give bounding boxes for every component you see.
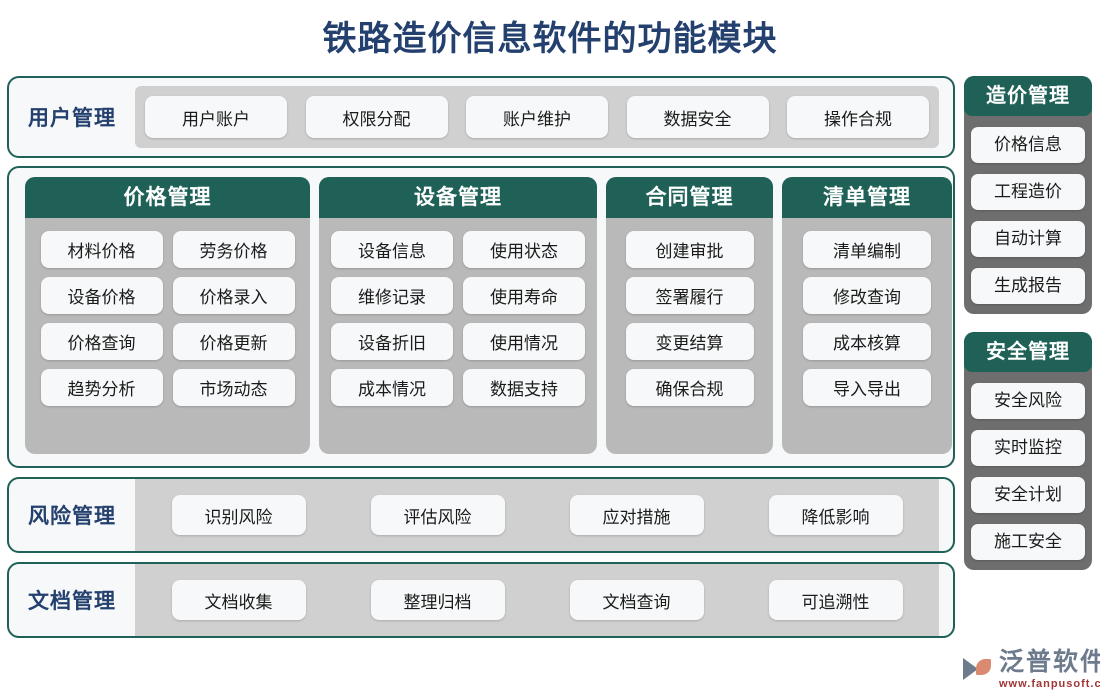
module-row: 签署履行 <box>606 277 773 314</box>
pill-create-approve[interactable]: 创建审批 <box>626 231 754 268</box>
pill-change-settle[interactable]: 变更结算 <box>626 323 754 360</box>
sidebar-header-safety: 安全管理 <box>964 332 1092 372</box>
pill-cost-accounting[interactable]: 成本核算 <box>803 323 931 360</box>
module-row: 设备信息 使用状态 <box>319 231 597 268</box>
modules-card: 价格管理 材料价格 劳务价格 设备价格 价格录入 价格查询 价格更新 趋势分析 … <box>7 166 955 468</box>
sidebar-panel-cost: 造价管理 价格信息 工程造价 自动计算 生成报告 <box>964 76 1092 314</box>
pill-service-life[interactable]: 使用寿命 <box>463 277 585 314</box>
module-column-equipment: 设备管理 设备信息 使用状态 维修记录 使用寿命 设备折旧 使用情况 成本情况 … <box>319 177 597 454</box>
module-row: 维修记录 使用寿命 <box>319 277 597 314</box>
module-header-equipment: 设备管理 <box>319 177 597 218</box>
pill-usage-detail[interactable]: 使用情况 <box>463 323 585 360</box>
module-row: 清单编制 <box>782 231 952 268</box>
sidebar-item-gen-report[interactable]: 生成报告 <box>971 268 1085 304</box>
pill-user-account[interactable]: 用户账户 <box>145 96 287 138</box>
pill-operation-comp[interactable]: 操作合规 <box>787 96 929 138</box>
sidebar-item-auto-calc[interactable]: 自动计算 <box>971 221 1085 257</box>
sidebar-item-realtime-mon[interactable]: 实时监控 <box>971 430 1085 466</box>
module-body-price: 材料价格 劳务价格 设备价格 价格录入 价格查询 价格更新 趋势分析 市场动态 <box>25 218 310 454</box>
pill-identify-risk[interactable]: 识别风险 <box>172 495 306 535</box>
fanpu-watermark-bottom: 泛普软件 www.fanpusoft.com <box>963 650 1100 690</box>
pill-doc-query[interactable]: 文档查询 <box>570 580 704 620</box>
document-management-items: 文档收集 整理归档 文档查询 可追溯性 <box>135 564 939 636</box>
pill-assess-risk[interactable]: 评估风险 <box>371 495 505 535</box>
module-row: 材料价格 劳务价格 <box>25 231 310 268</box>
module-row: 设备折旧 使用情况 <box>319 323 597 360</box>
module-row: 趋势分析 市场动态 <box>25 369 310 406</box>
pill-data-security[interactable]: 数据安全 <box>627 96 769 138</box>
module-body-billlist: 清单编制 修改查询 成本核算 导入导出 <box>782 218 952 454</box>
pill-market-dynamic[interactable]: 市场动态 <box>173 369 295 406</box>
pill-data-support[interactable]: 数据支持 <box>463 369 585 406</box>
pill-trend-analysis[interactable]: 趋势分析 <box>41 369 163 406</box>
pill-ensure-compliance[interactable]: 确保合规 <box>626 369 754 406</box>
risk-management-card: 风险管理 识别风险 评估风险 应对措施 降低影响 <box>7 477 955 553</box>
pill-modify-query[interactable]: 修改查询 <box>803 277 931 314</box>
pill-equipment-price[interactable]: 设备价格 <box>41 277 163 314</box>
user-management-items: 用户账户 权限分配 账户维护 数据安全 操作合规 <box>135 86 939 148</box>
pill-price-update[interactable]: 价格更新 <box>173 323 295 360</box>
pill-list-compile[interactable]: 清单编制 <box>803 231 931 268</box>
page-title: 铁路造价信息软件的功能模块 <box>0 17 1100 61</box>
module-column-price: 价格管理 材料价格 劳务价格 设备价格 价格录入 价格查询 价格更新 趋势分析 … <box>25 177 310 454</box>
pill-usage-status[interactable]: 使用状态 <box>463 231 585 268</box>
main-column: 用户管理 用户账户 权限分配 账户维护 数据安全 操作合规 价格管理 材料价格 … <box>7 76 955 656</box>
pill-repair-record[interactable]: 维修记录 <box>331 277 453 314</box>
user-management-card: 用户管理 用户账户 权限分配 账户维护 数据安全 操作合规 <box>7 76 955 158</box>
document-management-card: 文档管理 文档收集 整理归档 文档查询 可追溯性 <box>7 562 955 638</box>
pill-equipment-info[interactable]: 设备信息 <box>331 231 453 268</box>
pill-traceability[interactable]: 可追溯性 <box>769 580 903 620</box>
pill-material-price[interactable]: 材料价格 <box>41 231 163 268</box>
watermark-cn-text: 泛普软件 <box>999 650 1100 675</box>
sidebar-item-construction-safety[interactable]: 施工安全 <box>971 524 1085 560</box>
module-row: 设备价格 价格录入 <box>25 277 310 314</box>
pill-import-export[interactable]: 导入导出 <box>803 369 931 406</box>
module-row: 成本情况 数据支持 <box>319 369 597 406</box>
module-column-billlist: 清单管理 清单编制 修改查询 成本核算 导入导出 <box>782 177 952 454</box>
sidebar-header-cost: 造价管理 <box>964 76 1092 116</box>
pill-doc-collect[interactable]: 文档收集 <box>172 580 306 620</box>
pill-price-entry[interactable]: 价格录入 <box>173 277 295 314</box>
pill-cost-status[interactable]: 成本情况 <box>331 369 453 406</box>
risk-management-label: 风险管理 <box>9 479 135 551</box>
module-header-price: 价格管理 <box>25 177 310 218</box>
module-row: 创建审批 <box>606 231 773 268</box>
sidebar-item-safety-plan[interactable]: 安全计划 <box>971 477 1085 513</box>
sidebar-panel-safety: 安全管理 安全风险 实时监控 安全计划 施工安全 <box>964 332 1092 570</box>
module-row: 修改查询 <box>782 277 952 314</box>
module-header-billlist: 清单管理 <box>782 177 952 218</box>
pill-labor-price[interactable]: 劳务价格 <box>173 231 295 268</box>
pill-permission[interactable]: 权限分配 <box>306 96 448 138</box>
fanpu-logo-icon <box>963 655 993 685</box>
module-body-contract: 创建审批 签署履行 变更结算 确保合规 <box>606 218 773 454</box>
module-row: 导入导出 <box>782 369 952 406</box>
sidebar: 造价管理 价格信息 工程造价 自动计算 生成报告 安全管理 安全风险 实时监控 … <box>964 76 1092 570</box>
module-header-contract: 合同管理 <box>606 177 773 218</box>
pill-depreciation[interactable]: 设备折旧 <box>331 323 453 360</box>
module-row: 成本核算 <box>782 323 952 360</box>
sidebar-item-safety-risk[interactable]: 安全风险 <box>971 383 1085 419</box>
module-row: 价格查询 价格更新 <box>25 323 310 360</box>
pill-countermeasure[interactable]: 应对措施 <box>570 495 704 535</box>
risk-management-items: 识别风险 评估风险 应对措施 降低影响 <box>135 479 939 551</box>
module-body-equipment: 设备信息 使用状态 维修记录 使用寿命 设备折旧 使用情况 成本情况 数据支持 <box>319 218 597 454</box>
module-row: 变更结算 <box>606 323 773 360</box>
sidebar-item-project-cost[interactable]: 工程造价 <box>971 174 1085 210</box>
document-management-label: 文档管理 <box>9 564 135 636</box>
pill-price-query[interactable]: 价格查询 <box>41 323 163 360</box>
module-column-contract: 合同管理 创建审批 签署履行 变更结算 确保合规 <box>606 177 773 454</box>
user-management-label: 用户管理 <box>9 78 135 156</box>
pill-sign-perform[interactable]: 签署履行 <box>626 277 754 314</box>
pill-account-maint[interactable]: 账户维护 <box>466 96 608 138</box>
pill-doc-archive[interactable]: 整理归档 <box>371 580 505 620</box>
watermark-url-text: www.fanpusoft.com <box>999 679 1100 690</box>
pill-reduce-impact[interactable]: 降低影响 <box>769 495 903 535</box>
module-row: 确保合规 <box>606 369 773 406</box>
sidebar-item-price-info[interactable]: 价格信息 <box>971 127 1085 163</box>
